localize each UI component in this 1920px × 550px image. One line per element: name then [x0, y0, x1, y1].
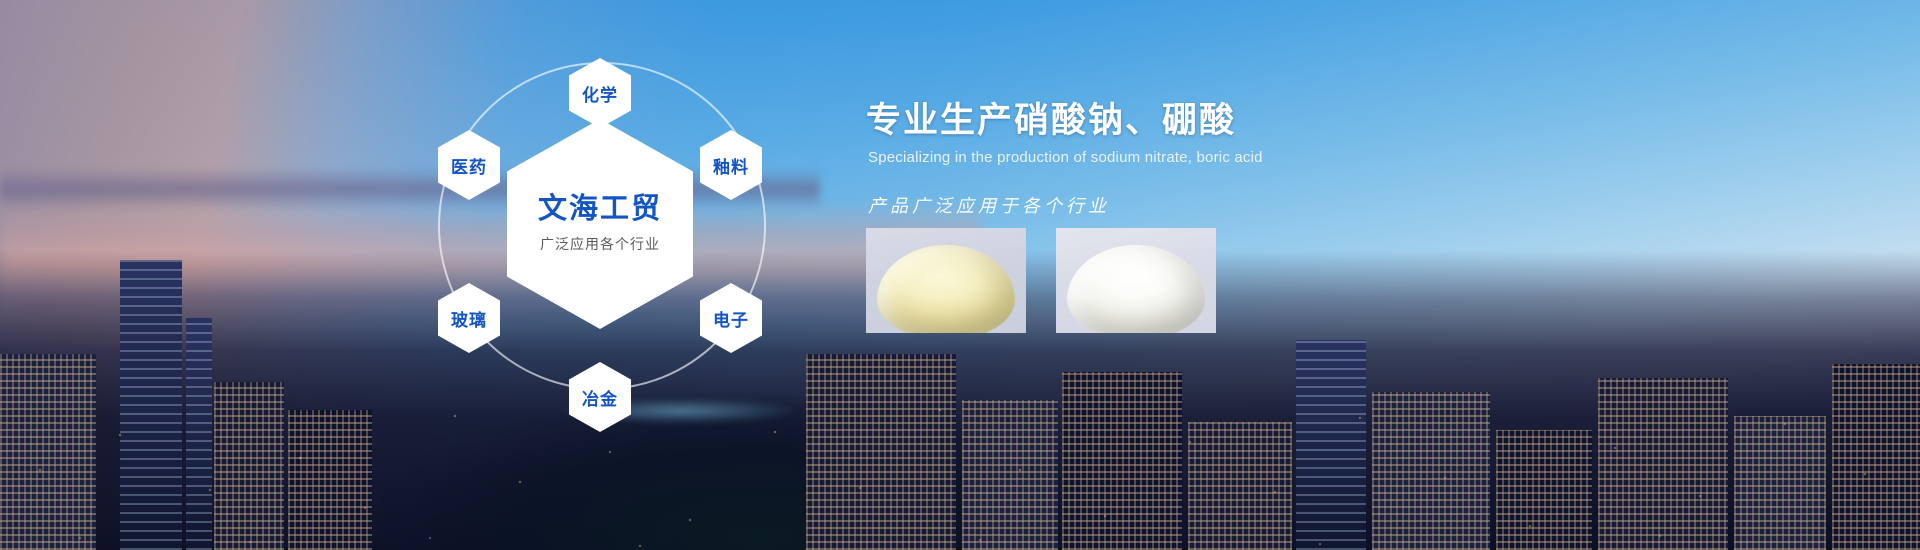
skyscraper-left: [120, 260, 182, 550]
powder-pile: [877, 245, 1015, 333]
building-block-2: [214, 382, 284, 550]
product-photo-boric-acid[interactable]: [1056, 228, 1216, 333]
headline-block: 专业生产硝酸钠、硼酸 Specializing in the productio…: [866, 100, 1486, 218]
building-block-8: [1372, 392, 1490, 550]
company-name: 文海工贸: [538, 195, 662, 224]
powder-grain-texture: [1067, 245, 1205, 333]
product-photo-strip: [866, 228, 1216, 333]
headline: 专业生产硝酸钠、硼酸: [866, 100, 1486, 141]
powder-pile: [1067, 245, 1205, 333]
building-block-1: [0, 354, 96, 550]
building-block-11: [1734, 416, 1826, 550]
building-block-3: [288, 410, 372, 550]
hex-node-label: 电子: [713, 306, 749, 331]
building-block-12: [1832, 364, 1920, 550]
building-block-10: [1598, 378, 1728, 550]
skyscraper-left2: [186, 318, 212, 550]
industry-hex-diagram: 化学 釉料 电子 冶金 玻璃 医药 文海工贸 广泛应用各个行业: [430, 30, 770, 430]
hex-node-label: 釉料: [713, 153, 749, 178]
product-photo-sodium-nitrate[interactable]: [866, 228, 1026, 333]
building-block-5: [962, 400, 1058, 550]
company-tagline: 广泛应用各个行业: [540, 234, 660, 254]
hex-node-label: 玻璃: [451, 306, 487, 331]
building-block-9: [1496, 430, 1592, 550]
subheadline-en: Specializing in the production of sodium…: [868, 149, 1486, 166]
hex-node-label: 医药: [451, 153, 487, 178]
promo-banner: 化学 釉料 电子 冶金 玻璃 医药 文海工贸 广泛应用各个行业 专业生产硝酸钠、…: [0, 0, 1920, 550]
building-block-6: [1062, 372, 1182, 550]
building-block-4: [806, 354, 956, 550]
hex-node-label: 冶金: [582, 385, 618, 410]
tagline: 产品广泛应用于各个行业: [868, 192, 1486, 218]
hex-node-label: 化学: [582, 81, 618, 106]
skyscraper-right: [1296, 340, 1366, 550]
building-block-7: [1188, 422, 1292, 550]
powder-grain-texture: [877, 245, 1015, 333]
